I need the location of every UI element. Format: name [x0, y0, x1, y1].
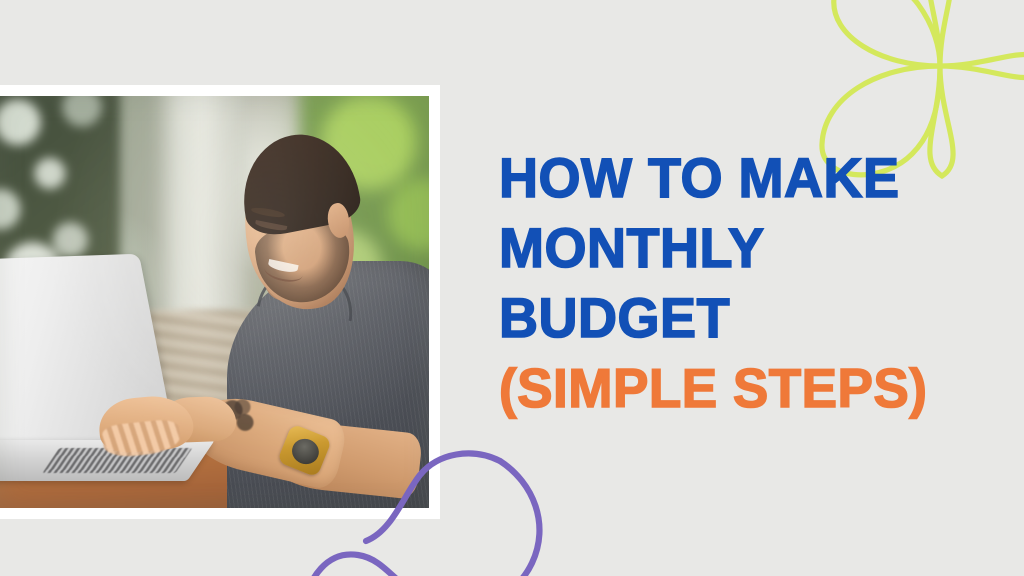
hero-photo-card — [0, 85, 440, 519]
headline-line-4: (SIMPLE STEPS) — [499, 353, 953, 423]
hero-photo — [0, 96, 429, 508]
headline-block: HOW TO MAKE MONTHLY BUDGET (SIMPLE STEPS… — [499, 143, 969, 423]
headline-line-1: HOW TO MAKE — [499, 143, 953, 213]
photo-vignette — [0, 96, 429, 508]
headline-line-3: BUDGET — [499, 283, 953, 353]
poster-canvas: HOW TO MAKE MONTHLY BUDGET (SIMPLE STEPS… — [0, 0, 1024, 576]
headline-line-2: MONTHLY — [499, 213, 953, 283]
